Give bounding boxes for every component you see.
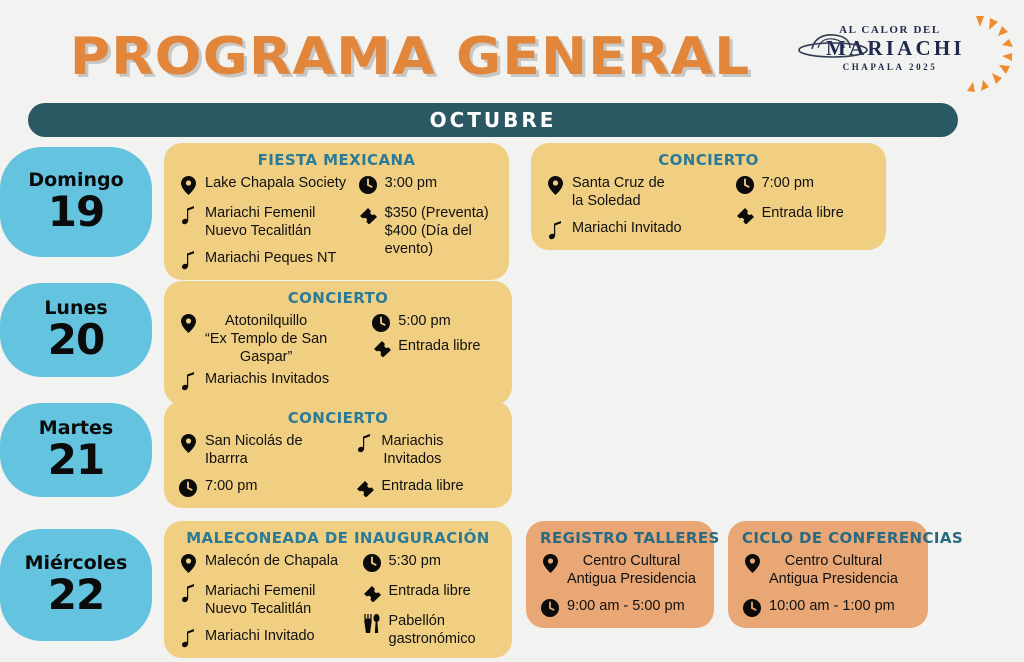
clock-icon (178, 478, 198, 498)
event-card[interactable]: REGISTRO TALLERES Centro Cultural Antigu… (526, 521, 714, 628)
event-card[interactable]: CONCIERTO San Nicolás de Ibarrra (164, 401, 512, 508)
event-detail-time: 3:00 pm (358, 174, 495, 195)
event-card[interactable]: FIESTA MEXICANA Lake Chapala Society (164, 143, 509, 280)
clock-icon (358, 175, 378, 195)
page-header: PROGRAMA GENERAL AL CALOR DEL MARIACHI C… (0, 0, 1024, 100)
location-pin-icon (178, 175, 198, 195)
event-detail-price: Entrada libre (371, 337, 498, 358)
event-card-column-left: Santa Cruz de la Soledad Mariachi Invita… (545, 174, 727, 240)
event-detail-text: 7:00 pm (762, 174, 814, 192)
event-detail-location: Santa Cruz de la Soledad (545, 174, 727, 210)
event-detail-price: Entrada libre (735, 204, 872, 225)
event-card-column-left: Atotonilquillo “Ex Templo de San Gaspar”… (178, 312, 363, 395)
clock-icon (371, 313, 391, 333)
event-detail-location: San Nicolás de Ibarrra (178, 432, 346, 468)
event-detail-text: Mariachi Femenil Nuevo Tecalitlán (205, 582, 315, 618)
schedule-row-20: Lunes 20 CONCIERTO Atotonilquillo “Ex Te… (0, 281, 1024, 391)
event-detail-text: Entrada libre (389, 582, 471, 600)
music-note-icon (545, 220, 565, 240)
event-detail-text: Entrada libre (398, 337, 480, 355)
schedule-list: Domingo 19 FIESTA MEXICANA Lake Chapala … (0, 143, 1024, 662)
event-detail-text: Mariachi Peques NT (205, 249, 336, 267)
location-pin-icon (742, 553, 762, 573)
ticket-icon (358, 205, 378, 225)
clock-icon (742, 598, 762, 618)
event-card-title: CONCIERTO (178, 409, 498, 427)
ticket-icon (362, 583, 382, 603)
event-card-column-left: Malecón de Chapala Mariachi Femenil Nuev… (178, 552, 354, 648)
event-card-column-right: 7:00 pm Entrada libre (735, 174, 872, 240)
day-cards-21: CONCIERTO San Nicolás de Ibarrra (152, 401, 1024, 508)
event-detail-price: Entrada libre (362, 582, 499, 603)
ticket-icon (735, 205, 755, 225)
event-detail-time: 9:00 am - 5:00 pm (540, 597, 700, 618)
music-note-icon (354, 433, 374, 453)
event-card-title: CONCIERTO (178, 289, 498, 307)
event-detail-time: 5:30 pm (362, 552, 499, 573)
schedule-row-22: Miércoles 22 MALECONEADA DE INAUGURACIÓN… (0, 521, 1024, 653)
location-pin-icon (178, 553, 198, 573)
day-pill-19: Domingo 19 (0, 147, 152, 257)
day-number: 21 (48, 438, 104, 482)
day-cards-22: MALECONEADA DE INAUGURACIÓN Malecón de C… (152, 521, 1024, 658)
event-detail-time: 7:00 pm (178, 477, 346, 498)
event-detail-location: Atotonilquillo “Ex Templo de San Gaspar” (178, 312, 363, 366)
event-detail-text: Malecón de Chapala (205, 552, 338, 570)
event-detail-text: Mariachi Invitado (205, 627, 315, 645)
day-number: 20 (48, 318, 104, 362)
event-card-title: REGISTRO TALLERES (540, 529, 700, 547)
event-detail-text: San Nicolás de Ibarrra (205, 432, 303, 468)
day-number: 22 (48, 573, 104, 617)
event-detail-location: Centro Cultural Antigua Presidencia (540, 552, 700, 588)
music-note-icon (178, 371, 198, 391)
event-logo: AL CALOR DEL MARIACHI CHAPALA 2025 (826, 14, 1016, 94)
event-detail-text: Mariachis Invitados (205, 370, 329, 388)
event-detail-time: 5:00 pm (371, 312, 498, 333)
event-detail-text: Mariachi Invitado (572, 219, 682, 237)
event-detail-text: Centro Cultural Antigua Presidencia (769, 552, 898, 588)
event-card[interactable]: CICLO DE CONFERENCIAS Centro Cultural An… (728, 521, 928, 628)
event-card-title: FIESTA MEXICANA (178, 151, 495, 169)
event-card-title: MALECONEADA DE INAUGURACIÓN (178, 529, 498, 547)
event-card[interactable]: CONCIERTO Atotonilquillo “Ex Templo de S… (164, 281, 512, 405)
event-detail-text: Lake Chapala Society (205, 174, 346, 192)
music-note-icon (178, 205, 198, 225)
ticket-icon (371, 338, 391, 358)
month-banner-label: OCTUBRE (430, 108, 557, 132)
clock-icon (735, 175, 755, 195)
event-detail-location: Centro Cultural Antigua Presidencia (742, 552, 914, 588)
event-detail-artist: Mariachi Invitado (178, 627, 354, 648)
event-card-column-left: Centro Cultural Antigua Presidencia 9:00… (540, 552, 700, 618)
event-detail-text: 9:00 am - 5:00 pm (567, 597, 685, 615)
sun-crescent-icon (932, 14, 1016, 94)
event-detail-text: $350 (Preventa) $400 (Día del evento) (385, 204, 489, 258)
ticket-icon (354, 478, 374, 498)
event-detail-text: Mariachi Femenil Nuevo Tecalitlán (205, 204, 315, 240)
month-banner: OCTUBRE (28, 103, 958, 137)
day-cards-19: FIESTA MEXICANA Lake Chapala Society (152, 143, 1024, 280)
event-detail-price: $350 (Preventa) $400 (Día del evento) (358, 204, 495, 258)
event-detail-artist: Mariachi Femenil Nuevo Tecalitlán (178, 582, 354, 618)
clock-icon (362, 553, 382, 573)
event-detail-text: 10:00 am - 1:00 pm (769, 597, 895, 615)
event-card-column-right: Mariachis Invitados Entrada libre (354, 432, 498, 498)
event-detail-text: Atotonilquillo “Ex Templo de San Gaspar” (205, 312, 327, 366)
event-card-column-left: San Nicolás de Ibarrra 7:00 pm (178, 432, 346, 498)
event-card-title: CICLO DE CONFERENCIAS (742, 529, 914, 547)
day-cards-20: CONCIERTO Atotonilquillo “Ex Templo de S… (152, 281, 1024, 405)
schedule-row-21: Martes 21 CONCIERTO San Nicolás de Ibarr… (0, 401, 1024, 511)
event-detail-artist: Mariachi Invitado (545, 219, 727, 240)
event-detail-text: 5:00 pm (398, 312, 450, 330)
event-card-column-right: 3:00 pm $350 (Preventa) $400 (Día del ev… (358, 174, 495, 270)
event-detail-text: Pabellón gastronómico (389, 612, 476, 648)
day-pill-21: Martes 21 (0, 403, 152, 497)
location-pin-icon (540, 553, 560, 573)
event-detail-text: 5:30 pm (389, 552, 441, 570)
event-detail-food: Pabellón gastronómico (362, 612, 499, 648)
location-pin-icon (178, 313, 198, 333)
event-detail-time: 7:00 pm (735, 174, 872, 195)
event-card-column-right: 5:00 pm Entrada libre (371, 312, 498, 395)
event-detail-artist: Mariachi Peques NT (178, 249, 350, 270)
music-note-icon (178, 583, 198, 603)
location-pin-icon (545, 175, 565, 195)
event-detail-text: Entrada libre (381, 477, 463, 495)
event-detail-time: 10:00 am - 1:00 pm (742, 597, 914, 618)
music-note-icon (178, 628, 198, 648)
sombrero-icon (798, 32, 868, 58)
event-detail-artist: Mariachi Femenil Nuevo Tecalitlán (178, 204, 350, 240)
schedule-row-19: Domingo 19 FIESTA MEXICANA Lake Chapala … (0, 143, 1024, 271)
clock-icon (540, 598, 560, 618)
music-note-icon (178, 250, 198, 270)
day-pill-20: Lunes 20 (0, 283, 152, 377)
day-number: 19 (48, 190, 104, 234)
cutlery-icon (362, 613, 382, 633)
event-card[interactable]: CONCIERTO Santa Cruz de la Soledad (531, 143, 886, 250)
event-detail-location: Malecón de Chapala (178, 552, 354, 573)
event-detail-text: Entrada libre (762, 204, 844, 222)
event-card-column-right: 5:30 pm Entrada libre Pabe (362, 552, 499, 648)
event-detail-text: Mariachis Invitados (381, 432, 443, 468)
event-detail-artist: Mariachis Invitados (178, 370, 363, 391)
event-detail-text: 3:00 pm (385, 174, 437, 192)
event-card-title: CONCIERTO (545, 151, 872, 169)
day-pill-22: Miércoles 22 (0, 529, 152, 641)
event-card[interactable]: MALECONEADA DE INAUGURACIÓN Malecón de C… (164, 521, 512, 658)
event-detail-price: Entrada libre (354, 477, 498, 498)
event-detail-location: Lake Chapala Society (178, 174, 350, 195)
event-detail-text: 7:00 pm (205, 477, 257, 495)
location-pin-icon (178, 433, 198, 453)
event-card-column-left: Lake Chapala Society Mariachi Femenil Nu… (178, 174, 350, 270)
event-detail-artist: Mariachis Invitados (354, 432, 498, 468)
page-title: PROGRAMA GENERAL (0, 27, 845, 87)
event-card-column-left: Centro Cultural Antigua Presidencia 10:0… (742, 552, 914, 618)
event-detail-text: Centro Cultural Antigua Presidencia (567, 552, 696, 588)
event-detail-text: Santa Cruz de la Soledad (572, 174, 665, 210)
